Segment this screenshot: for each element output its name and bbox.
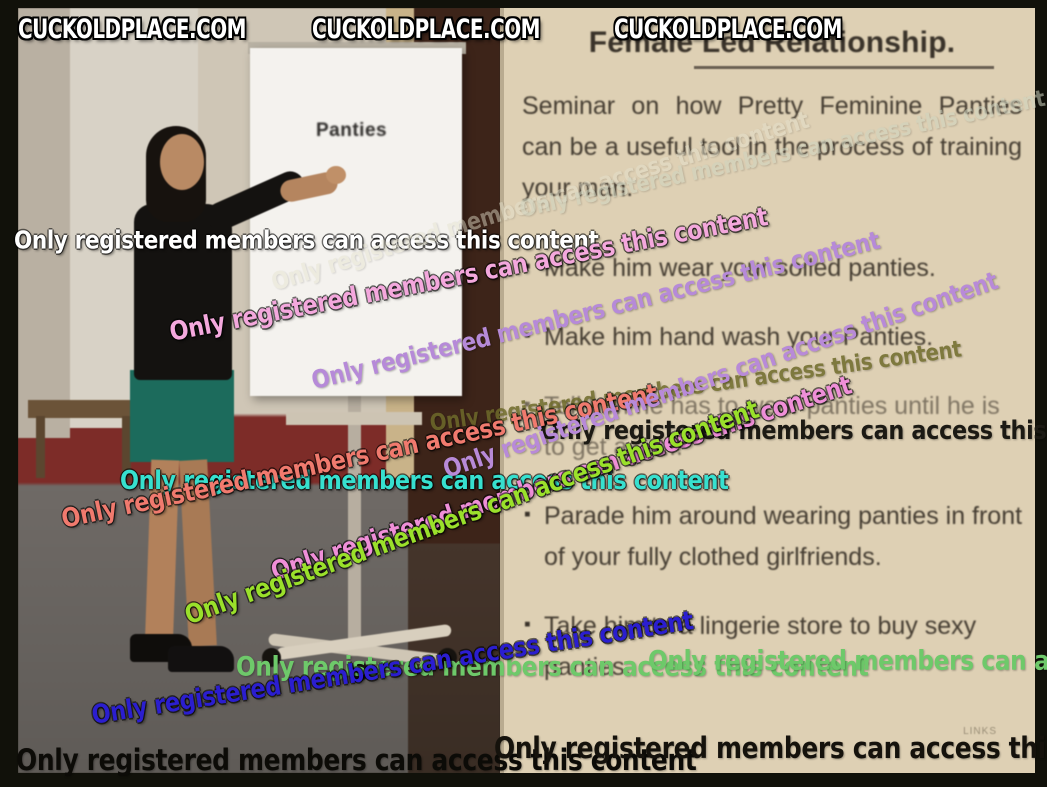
document-title-underline bbox=[694, 66, 994, 69]
watermarked-image: Panties Female Led Relationship. Seminar… bbox=[18, 8, 1035, 773]
photo-table-leg-left bbox=[36, 416, 45, 478]
photo-wall-shadow bbox=[18, 8, 70, 438]
site-watermark: CUCKOLDPLACE.COM bbox=[18, 14, 246, 45]
list-item: Tell him he has to wear panties until he… bbox=[522, 386, 1024, 468]
document-lead-paragraph: Seminar on how Pretty Feminine Panties c… bbox=[522, 86, 1022, 209]
document-footer-note: LINKS bbox=[963, 726, 997, 737]
list-item: Parade him around wearing panties in fro… bbox=[522, 496, 1024, 578]
flipchart-board bbox=[250, 48, 462, 396]
flipchart-label: Panties bbox=[316, 120, 446, 142]
presenter-hand bbox=[326, 166, 346, 184]
list-item: Take him to a lingerie store to buy sexy… bbox=[522, 606, 1024, 688]
presenter-leg-left bbox=[145, 460, 180, 649]
site-watermark: CUCKOLDPLACE.COM bbox=[312, 14, 540, 45]
image-viewer-stage: Panties Female Led Relationship. Seminar… bbox=[0, 0, 1047, 787]
site-watermark: CUCKOLDPLACE.COM bbox=[614, 14, 842, 45]
flipchart-tray bbox=[286, 412, 422, 425]
seminar-photo: Panties bbox=[18, 8, 500, 773]
list-item: Make him hand wash your Panties. bbox=[522, 317, 1024, 358]
presenter-skirt bbox=[130, 370, 234, 462]
list-item: Make him wear your soiled panties. bbox=[522, 248, 1024, 289]
presenter-head bbox=[160, 134, 204, 190]
presenter-shoe-right bbox=[168, 646, 234, 672]
flipchart-caster bbox=[262, 648, 281, 667]
presenter-leg-right bbox=[179, 459, 217, 646]
flipchart-caster bbox=[438, 648, 457, 667]
document-bullet-list: Make him wear your soiled panties. Make … bbox=[522, 248, 1024, 716]
flipchart-stem bbox=[348, 396, 361, 656]
flipchart-caster bbox=[350, 662, 369, 681]
document-panel: Female Led Relationship. Seminar on how … bbox=[500, 8, 1035, 773]
